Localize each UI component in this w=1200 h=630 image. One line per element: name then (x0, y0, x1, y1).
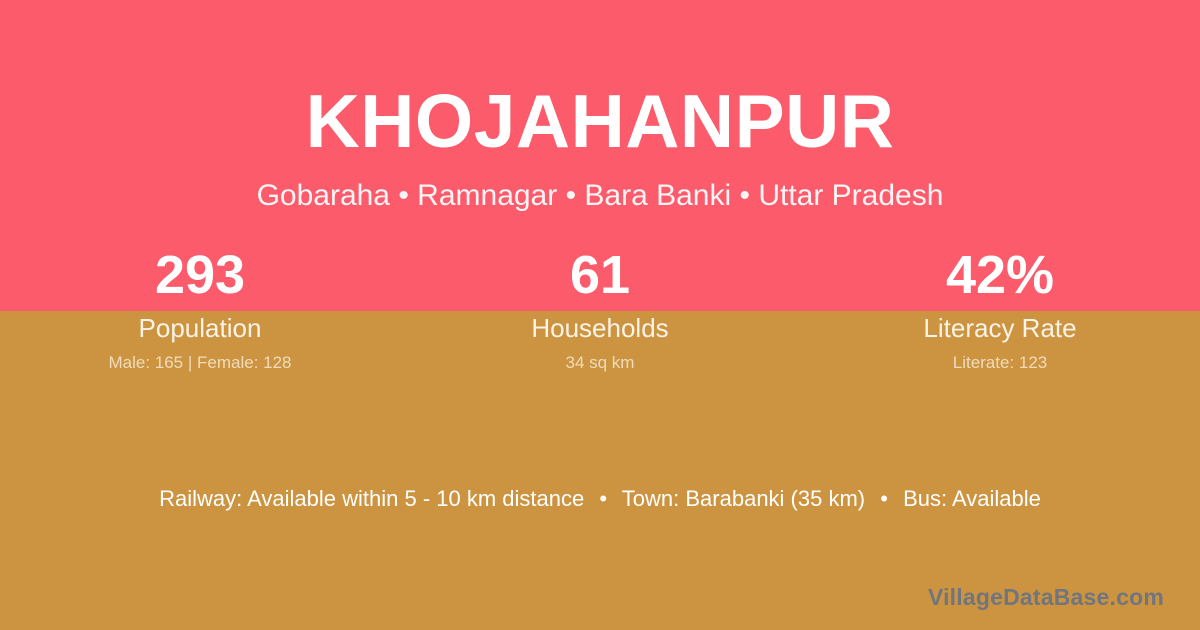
village-info-card: KHOJAHANPUR Gobaraha • Ramnagar • Bara B… (0, 0, 1200, 630)
bullet-separator-icon: • (590, 485, 616, 514)
stat-label: Households (400, 314, 800, 343)
stat-sublabel: Male: 165 | Female: 128 (0, 354, 400, 373)
stat-sublabel: 34 sq km (400, 354, 800, 373)
fact-town: Town: Barabanki (35 km) (622, 486, 865, 511)
bullet-separator-icon: • (871, 485, 897, 514)
brand-watermark: VillageDataBase.com (928, 584, 1164, 612)
breadcrumb: Gobaraha • Ramnagar • Bara Banki • Uttar… (0, 159, 1200, 212)
page-title: KHOJAHANPUR (0, 0, 1200, 159)
fact-bus: Bus: Available (903, 486, 1041, 511)
amenities-line: Railway: Available within 5 - 10 km dist… (0, 485, 1200, 514)
stat-sublabel: Literate: 123 (800, 354, 1200, 373)
stats-row: 293 Population Male: 165 | Female: 128 6… (0, 248, 1200, 372)
stat-label: Population (0, 314, 400, 343)
stat-value: 61 (400, 248, 800, 306)
stat-population: 293 Population Male: 165 | Female: 128 (0, 248, 400, 372)
stat-value: 293 (0, 248, 400, 306)
stat-value: 42% (800, 248, 1200, 306)
fact-railway: Railway: Available within 5 - 10 km dist… (159, 486, 584, 511)
stat-literacy-rate: 42% Literacy Rate Literate: 123 (800, 248, 1200, 372)
stat-households: 61 Households 34 sq km (400, 248, 800, 372)
card-header: KHOJAHANPUR Gobaraha • Ramnagar • Bara B… (0, 0, 1200, 212)
stat-label: Literacy Rate (800, 314, 1200, 343)
